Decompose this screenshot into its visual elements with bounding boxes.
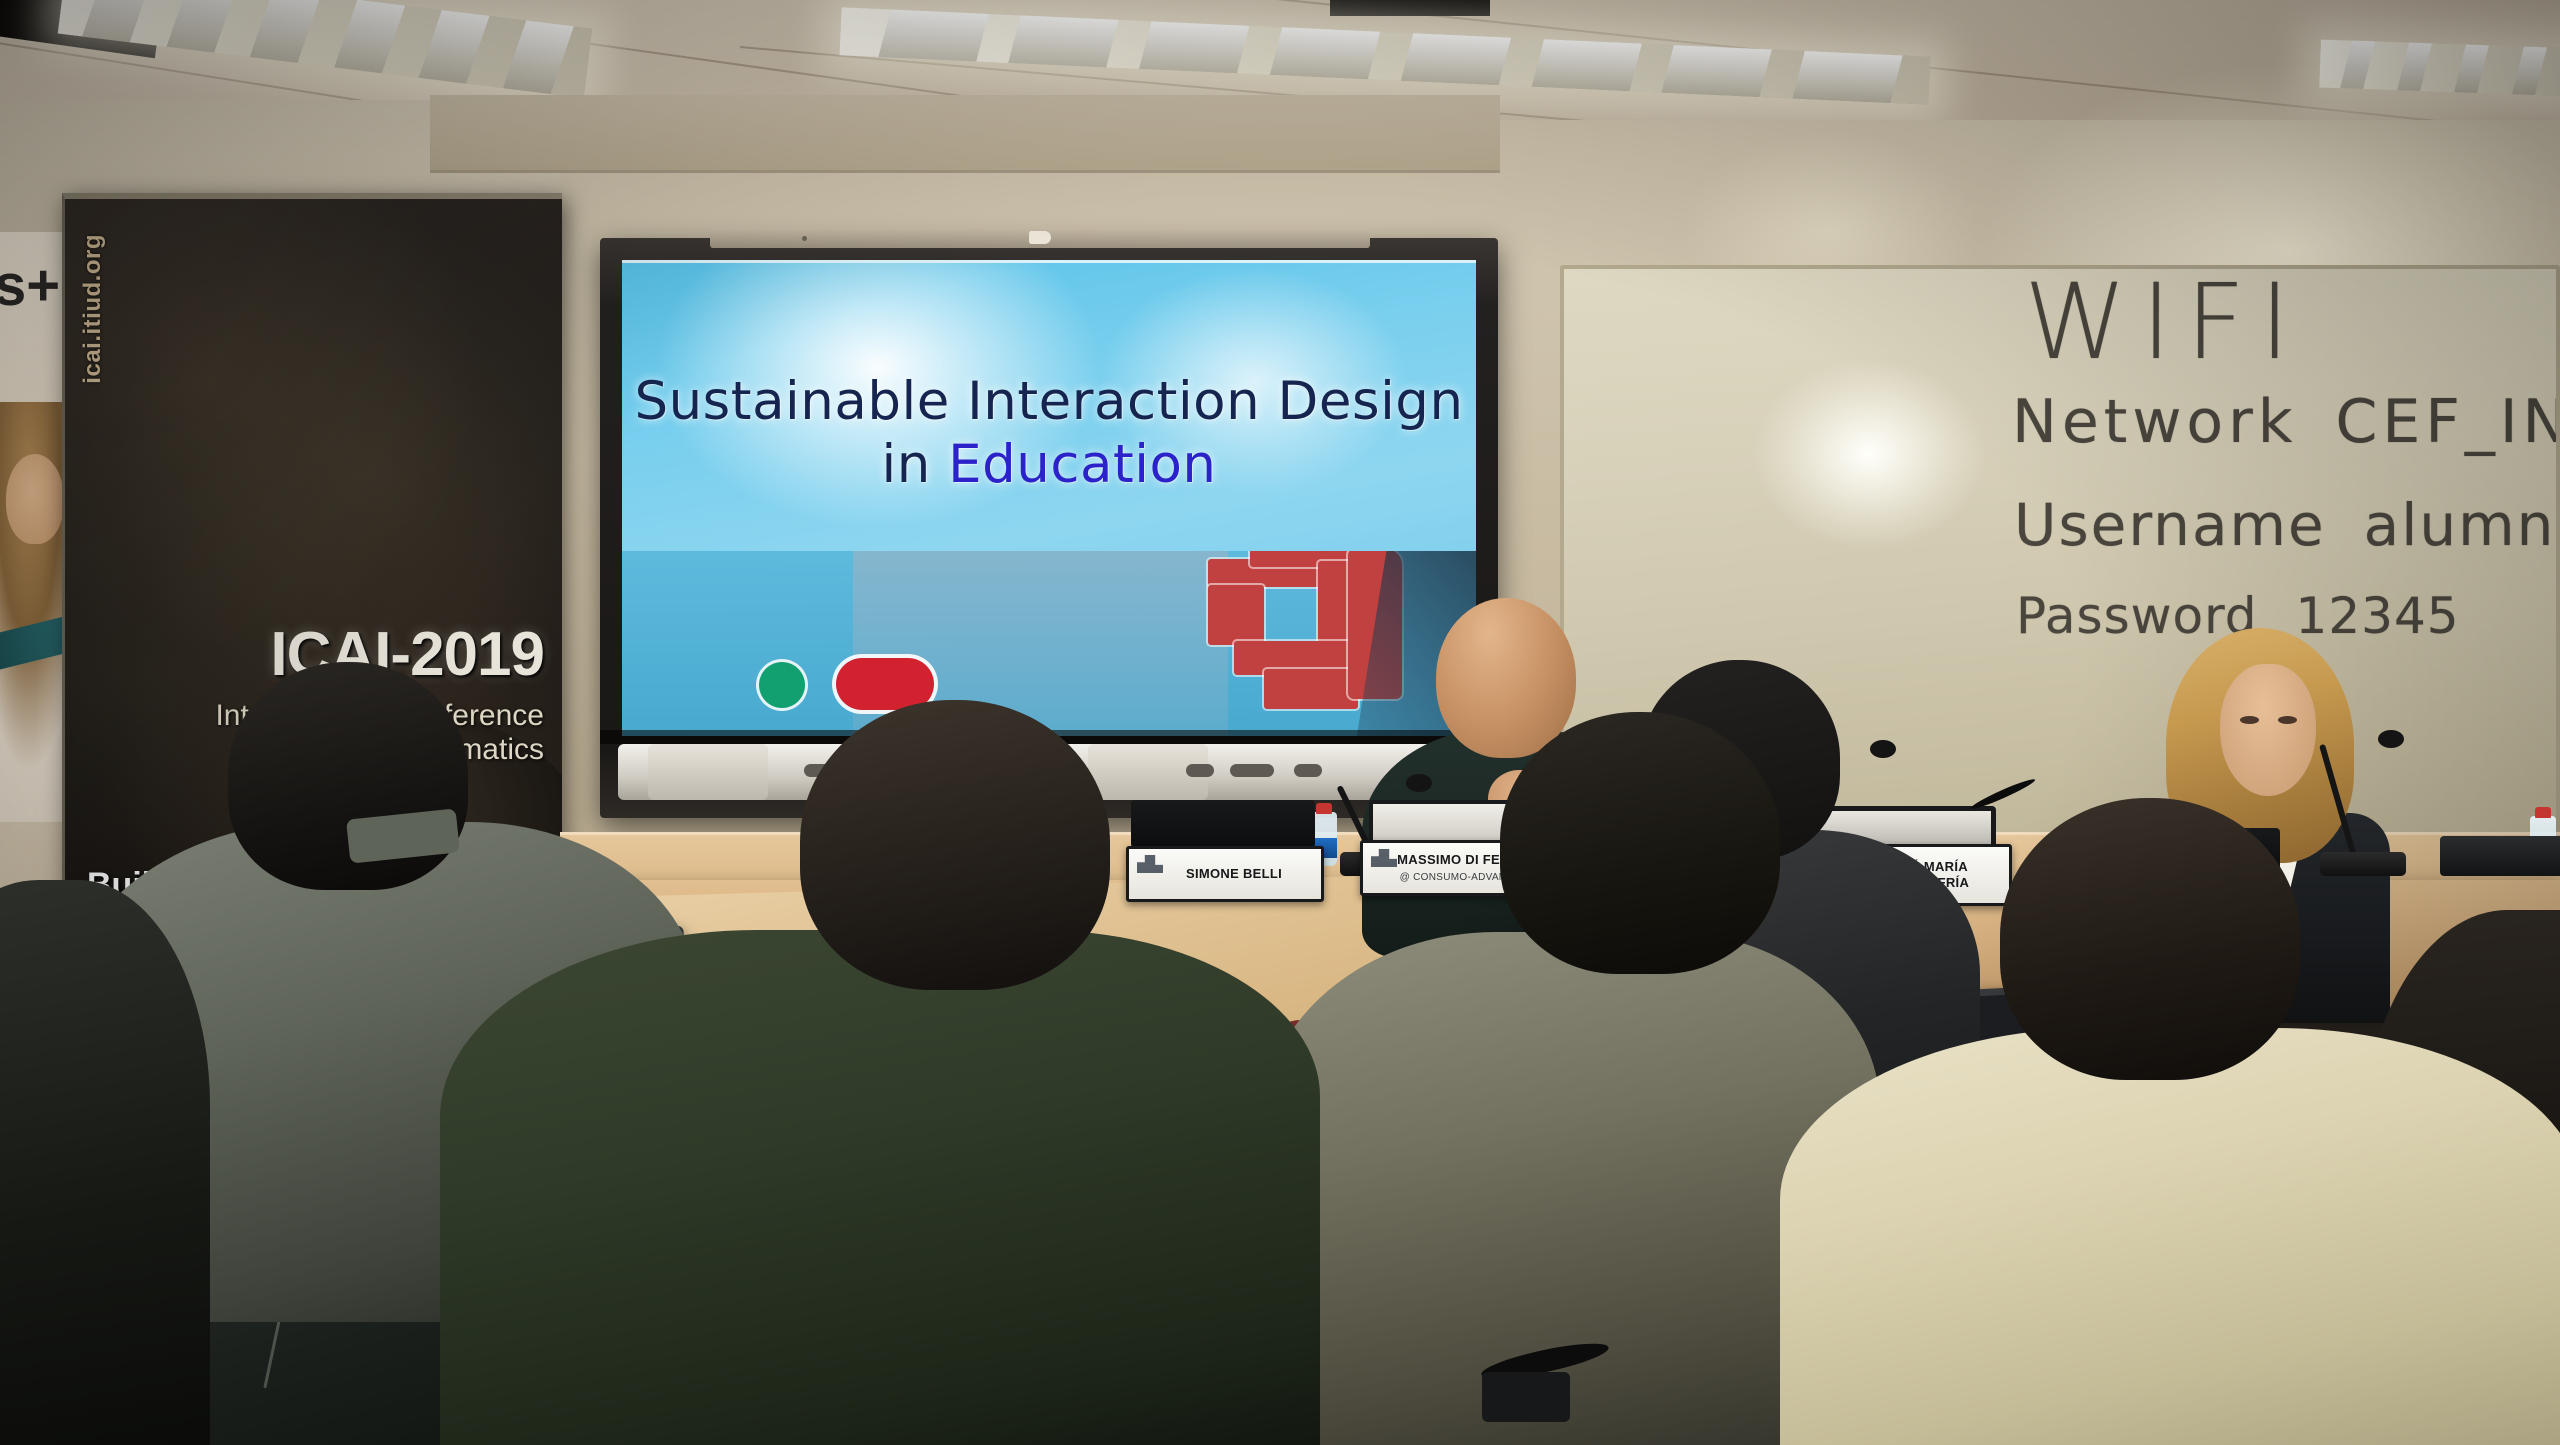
audience-cream-coat-body <box>1780 1028 2560 1445</box>
slide-image-band <box>622 551 1476 736</box>
whiteboard-glare <box>1754 359 1984 549</box>
microphone-icon-right <box>2352 740 2430 860</box>
whiteboard-network-value: CEF_INVITA <box>2336 387 2560 457</box>
audience-far-left-body <box>0 880 210 1445</box>
audience-grey-jacket-head <box>228 662 468 890</box>
woman-face <box>2220 664 2316 796</box>
audience-cream-coat-head <box>2000 798 2300 1080</box>
wall-soffit <box>430 95 1500 173</box>
speaker-head <box>1436 598 1576 758</box>
woman-eye-left <box>2240 716 2259 724</box>
nameplate-belli-name: SIMONE BELLI <box>1168 866 1282 882</box>
projector-rail <box>710 228 1370 248</box>
whiteboard-network-label: Network <box>2012 387 2298 457</box>
audience-olive-jacket-head <box>1500 712 1780 974</box>
conference-room-photo: s+ icai.itiud.org ICAI-2019 Internationa… <box>0 0 2560 1445</box>
whiteboard-username-value: alumnos <box>2364 491 2560 559</box>
power-adapter <box>1482 1372 1570 1422</box>
poster-text: s+ <box>0 252 60 319</box>
whiteboard-username-label: Username <box>2014 491 2326 559</box>
poster-face <box>6 454 64 544</box>
nameplate-logo-icon <box>1137 855 1163 873</box>
projector-camera-icon <box>1029 231 1051 244</box>
audience-green-shirt-head <box>800 700 1110 990</box>
slide-title: Sustainable Interaction Design in Educat… <box>622 371 1476 496</box>
projected-slide: Sustainable Interaction Design in Educat… <box>622 260 1476 736</box>
slide-title-accent: Education <box>948 434 1216 495</box>
nameplate-belli: SIMONE BELLI <box>1126 846 1324 902</box>
slide-green-dot <box>759 662 805 708</box>
woman-eye-right <box>2278 716 2297 724</box>
whiteboard-username-row: Usernamealumnos <box>2014 491 2560 559</box>
whiteboard-network-row: NetworkCEF_INVITA <box>2012 387 2560 457</box>
slide-title-line1: Sustainable Interaction Design <box>622 371 1476 434</box>
whiteboard-password-value: 12345 <box>2296 587 2460 645</box>
slide-red-pill <box>836 658 934 710</box>
slide-title-prefix: in <box>881 434 948 495</box>
audience-green-shirt-body <box>440 930 1320 1445</box>
whiteboard-heading: WIFI <box>2024 265 2304 383</box>
ceiling-light-panel-3 <box>2319 39 2560 96</box>
slide-title-line2: in Education <box>622 434 1476 497</box>
ceiling-light-panel-2 <box>839 7 1930 104</box>
whiteboard-password-label: Password <box>2016 587 2258 645</box>
panel-table-monitor-5 <box>2440 836 2560 876</box>
banner-url: icai.itiud.org <box>79 234 107 384</box>
panel-table-monitor-3 <box>1131 800 1315 848</box>
ceiling-vent-2 <box>1330 0 1490 16</box>
